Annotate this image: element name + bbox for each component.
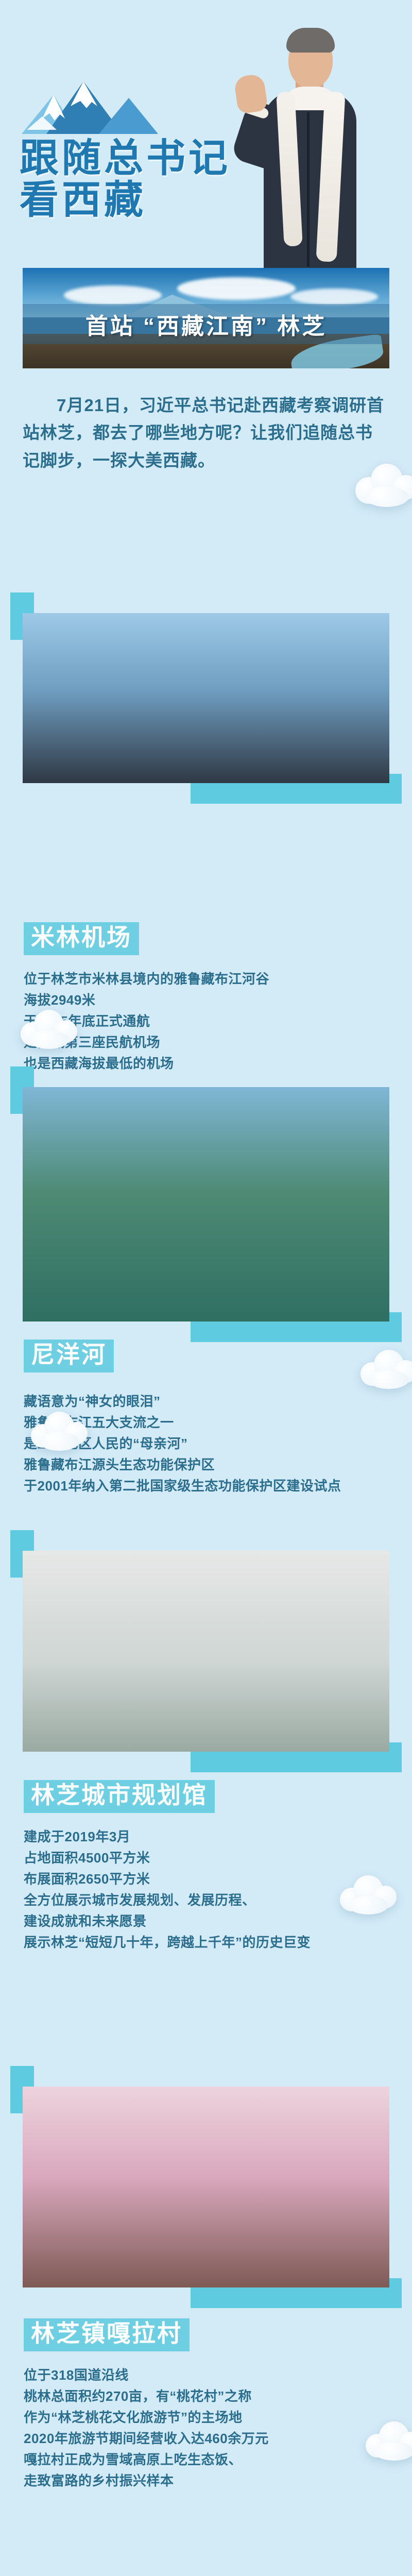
section-body-line: 也是西藏海拔最低的机场 xyxy=(24,1053,400,1074)
section-body-line: 展示林芝“短短几十年，跨越上千年”的历史巨变 xyxy=(24,1932,400,1953)
section-body-gala-village: 位于318国道沿线桃林总面积约270亩，有“桃花村”之称作为“林芝桃花文化旅游节… xyxy=(24,2365,400,2492)
section-body-niyang-river: 藏语意为“神女的眼泪”雅鲁藏布江五大支流之一是工布地区人民的“母亲河”雅鲁藏布江… xyxy=(24,1391,400,1497)
section-body-line: 布展面积2650平方米 xyxy=(24,1869,400,1890)
section-body-line: 位于林芝市米林县境内的雅鲁藏布江河谷 xyxy=(24,969,400,990)
section-body-line: 是工布地区人民的“母亲河” xyxy=(24,1433,400,1454)
section-body-line: 建设成就和未来愿景 xyxy=(24,1911,400,1932)
section-body-line: 桃林总面积约270亩，有“桃花村”之称 xyxy=(24,2386,400,2407)
section-body-line: 占地面积4500平方米 xyxy=(24,1848,400,1869)
banner-label-text: 首站 “西藏江南” 林芝 xyxy=(85,308,327,341)
section-photo xyxy=(23,1087,389,1321)
page-title: 跟随总书记 看西藏 xyxy=(20,138,267,221)
section-photo xyxy=(23,613,389,783)
section-title-milin-airport: 米林机场 xyxy=(24,922,139,955)
section-body-line: 于2001年纳入第二批国家级生态功能保护区建设试点 xyxy=(24,1476,400,1497)
hero-title-line-1: 跟随总书记 xyxy=(20,138,267,180)
section-body-milin-airport: 位于林芝市米林县境内的雅鲁藏布江河谷海拔2949米于2005年底正式通航是西藏第… xyxy=(24,969,400,1074)
section-title-gala-village: 林芝镇嘎拉村 xyxy=(24,2318,190,2351)
section-body-line: 雅鲁藏布江五大支流之一 xyxy=(24,1412,400,1433)
hero-title-line-2: 看西藏 xyxy=(20,180,267,222)
infographic-page: 跟随总书记 看西藏 首站 “西藏江南” 林芝 7月21日，习近平总书记赴西藏考察… xyxy=(0,0,412,2576)
section-photo xyxy=(23,2087,389,2287)
section-body-line: 全方位展示城市发展规划、发展历程、 xyxy=(24,1890,400,1911)
section-body-line: 嘎拉村正成为雪域高原上吃生态饭、 xyxy=(24,2449,400,2470)
leader-portrait xyxy=(233,14,387,278)
section-body-line: 位于318国道沿线 xyxy=(24,2365,400,2386)
section-body-line: 建成于2019年3月 xyxy=(24,1826,400,1848)
section-body-line: 海拔2949米 xyxy=(24,990,400,1011)
hero-header: 跟随总书记 看西藏 xyxy=(0,0,412,281)
section-photo xyxy=(23,1551,389,1752)
banner-label: 首站 “西藏江南” 林芝 xyxy=(23,304,389,344)
snow-mountain-icon xyxy=(22,72,158,134)
section-body-line: 作为“林芝桃花文化旅游节”的主场地 xyxy=(24,2407,400,2428)
section-body-line: 是西藏第三座民航机场 xyxy=(24,1032,400,1053)
section-title-nyingchi-planning-hall: 林芝城市规划馆 xyxy=(24,1780,215,1813)
section-body-line: 走致富路的乡村振兴样本 xyxy=(24,2470,400,2492)
section-body-nyingchi-planning-hall: 建成于2019年3月占地面积4500平方米布展面积2650平方米全方位展示城市发… xyxy=(24,1826,400,1953)
section-body-line: 雅鲁藏布江源头生态功能保护区 xyxy=(24,1454,400,1476)
section-body-line: 于2005年底正式通航 xyxy=(24,1011,400,1032)
section-title-niyang-river: 尼洋河 xyxy=(24,1340,114,1372)
section-body-line: 2020年旅游节期间经营收入达460余万元 xyxy=(24,2428,400,2449)
intro-paragraph: 7月21日，习近平总书记赴西藏考察调研首站林芝，都去了哪些地方呢？让我们追随总书… xyxy=(23,392,389,474)
section-body-line: 藏语意为“神女的眼泪” xyxy=(24,1391,400,1412)
